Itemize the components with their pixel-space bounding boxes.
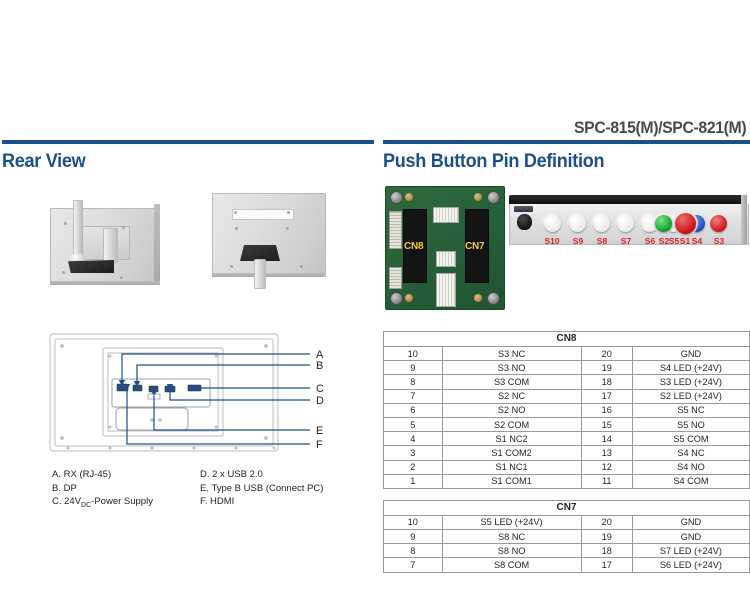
pin-number-cell: 7	[384, 389, 443, 403]
legend-column-right: D. 2 x USB 2.0 E. Type B USB (Connect PC…	[200, 468, 323, 509]
pin-number-cell: 9	[384, 361, 443, 375]
pin-number-cell: 14	[581, 432, 632, 446]
pin-table-row: 8S8 NO18S7 LED (+24V)	[384, 544, 750, 558]
pin-table-row: 9S3 NO19S4 LED (+24V)	[384, 361, 750, 375]
pin-number-cell: 8	[384, 375, 443, 389]
callout-letter-d: D	[316, 395, 324, 407]
pin-number-cell: 8	[384, 544, 443, 558]
pin-number-cell: 5	[384, 417, 443, 431]
pin-signal-cell: S6 LED (+24V)	[632, 558, 749, 572]
pin-signal-cell: S2 NO	[442, 403, 581, 417]
legend-c-prefix: C. 24V	[52, 496, 81, 507]
push-button-label-s2: S2	[653, 236, 675, 246]
pin-number-cell: 12	[581, 460, 632, 474]
pin-signal-cell: S1 NC1	[442, 460, 581, 474]
pcb-label-cn7: CN7	[465, 241, 484, 252]
button-bar-face: S10 S9 S8 S7 S6 S5 S4	[509, 204, 749, 245]
callout-letter-c: C	[316, 383, 324, 395]
pin-table-row: 7S8 COM17S6 LED (+24V)	[384, 558, 750, 572]
pin-number-cell: 9	[384, 530, 443, 544]
pcb-board-photo: CN8 CN7	[385, 186, 505, 310]
pin-signal-cell: S5 NO	[632, 417, 749, 431]
pin-signal-cell: S8 NO	[442, 544, 581, 558]
monitor-photo-angled	[50, 208, 160, 285]
push-button-s3[interactable]	[710, 215, 727, 232]
legend-c-suffix: -Power Supply	[91, 496, 153, 507]
pin-number-cell: 6	[384, 403, 443, 417]
pin-number-cell: 10	[384, 515, 443, 529]
pin-table-cn7: CN7 10S5 LED (+24V)20GND9S8 NC19GND8S8 N…	[383, 500, 750, 573]
pin-signal-cell: S7 LED (+24V)	[632, 544, 749, 558]
pin-number-cell: 17	[581, 558, 632, 572]
pin-signal-cell: S8 COM	[442, 558, 581, 572]
callout-letter-b: B	[316, 360, 323, 372]
push-button-label-s1: S1	[674, 236, 696, 246]
pin-number-cell: 13	[581, 446, 632, 460]
pin-table-row: 8S3 COM18S3 LED (+24V)	[384, 375, 750, 389]
pin-table-cn8: CN8 10S3 NC20GND9S3 NO19S4 LED (+24V)8S3…	[383, 331, 750, 489]
pin-signal-cell: S4 COM	[632, 474, 749, 488]
legend-item-b: B. DP	[52, 482, 153, 496]
pin-signal-cell: S3 COM	[442, 375, 581, 389]
pin-number-cell: 15	[581, 417, 632, 431]
push-button-heading: Push Button Pin Definition	[383, 151, 732, 173]
legend-item-a: A. RX (RJ-45)	[52, 468, 153, 482]
pin-table-row: 9S8 NC19GND	[384, 530, 750, 544]
pin-signal-cell: S2 LED (+24V)	[632, 389, 749, 403]
pin-number-cell: 1	[384, 474, 443, 488]
push-button-label-s7: S7	[615, 236, 637, 246]
pin-signal-cell: S4 NC	[632, 446, 749, 460]
pin-number-cell: 10	[384, 347, 443, 361]
pin-signal-cell: S2 NC	[442, 389, 581, 403]
pin-table-row: 10S3 NC20GND	[384, 347, 750, 361]
legend-c-subscript: DC	[81, 502, 91, 509]
rear-view-photos	[2, 183, 374, 328]
button-bar-brand-tag	[514, 206, 533, 212]
callout-letter-e: E	[316, 425, 323, 437]
rear-view-heading: Rear View	[2, 151, 355, 173]
pin-signal-cell: S5 LED (+24V)	[442, 515, 581, 529]
section-divider-rear	[2, 140, 374, 144]
pin-signal-cell: S1 NC2	[442, 432, 581, 446]
push-button-label-s3: S3	[708, 236, 730, 246]
pin-number-cell: 2	[384, 460, 443, 474]
push-button-s8[interactable]	[593, 215, 610, 232]
rear-view-line-drawing: A B C D E F	[48, 332, 348, 460]
push-button-section: Push Button Pin Definition CN8 CN7	[383, 140, 750, 573]
pin-number-cell: 19	[581, 361, 632, 375]
pin-signal-cell: S5 NC	[632, 403, 749, 417]
legend-item-f: F. HDMI	[200, 495, 323, 509]
button-bar-right-edge	[741, 195, 747, 244]
pin-signal-cell: S1 COM2	[442, 446, 581, 460]
pin-number-cell: 20	[581, 515, 632, 529]
pin-table-row: 6S2 NO16S5 NC	[384, 403, 750, 417]
push-button-label-s8: S8	[591, 236, 613, 246]
pin-signal-cell: S5 COM	[632, 432, 749, 446]
pin-signal-cell: GND	[632, 530, 749, 544]
pin-number-cell: 16	[581, 403, 632, 417]
pin-number-cell: 18	[581, 544, 632, 558]
pin-number-cell: 20	[581, 347, 632, 361]
button-bar-top-edge	[509, 195, 747, 204]
pin-table-row: 2S1 NC112S4 NO	[384, 460, 750, 474]
pcb-label-cn8: CN8	[404, 241, 423, 252]
push-button-s10[interactable]	[544, 215, 561, 232]
callout-letter-f: F	[316, 439, 323, 451]
push-button-bar-photo: S10 S9 S8 S7 S6 S5 S4	[509, 195, 747, 250]
pin-signal-cell: S8 NC	[442, 530, 581, 544]
pin-signal-cell: S1 COM1	[442, 474, 581, 488]
pin-number-cell: 11	[581, 474, 632, 488]
pin-table-cn8-body: 10S3 NC20GND9S3 NO19S4 LED (+24V)8S3 COM…	[384, 347, 750, 489]
pin-signal-cell: S3 NC	[442, 347, 581, 361]
section-divider-push	[383, 140, 750, 144]
legend-item-e: E. Type B USB (Connect PC)	[200, 482, 323, 496]
pin-table-row: 7S2 NC17S2 LED (+24V)	[384, 389, 750, 403]
pin-number-cell: 7	[384, 558, 443, 572]
pin-table-cn7-wrapper: CN7 10S5 LED (+24V)20GND9S8 NC19GND8S8 N…	[383, 500, 750, 573]
pin-table-row: 10S5 LED (+24V)20GND	[384, 515, 750, 529]
pin-signal-cell: S3 NO	[442, 361, 581, 375]
push-button-s1[interactable]	[675, 213, 696, 234]
pin-number-cell: 17	[581, 389, 632, 403]
pin-signal-cell: S2 COM	[442, 417, 581, 431]
pin-number-cell: 18	[581, 375, 632, 389]
pin-signal-cell: S3 LED (+24V)	[632, 375, 749, 389]
page-title: SPC-815(M)/SPC-821(M)	[574, 118, 746, 138]
pin-table-row: 3S1 COM213S4 NC	[384, 446, 750, 460]
pin-table-cn8-wrapper: CN8 10S3 NC20GND9S3 NO19S4 LED (+24V)8S3…	[383, 331, 750, 489]
legend-item-c: C. 24VDC-Power Supply	[52, 495, 153, 512]
pin-table-cn7-body: 10S5 LED (+24V)20GND9S8 NC19GND8S8 NO18S…	[384, 515, 750, 572]
pin-table-row: 4S1 NC214S5 COM	[384, 432, 750, 446]
legend-column-left: A. RX (RJ-45) B. DP C. 24VDC-Power Suppl…	[52, 468, 153, 512]
pin-signal-cell: GND	[632, 515, 749, 529]
pin-number-cell: 19	[581, 530, 632, 544]
legend-item-d: D. 2 x USB 2.0	[200, 468, 323, 482]
push-button-s9[interactable]	[569, 215, 586, 232]
pin-signal-cell: S4 LED (+24V)	[632, 361, 749, 375]
pin-number-cell: 3	[384, 446, 443, 460]
pin-number-cell: 4	[384, 432, 443, 446]
selector-knob[interactable]	[517, 214, 532, 230]
push-button-s2[interactable]	[655, 215, 672, 232]
push-button-photos: CN8 CN7 S10 S9 S8 S7	[383, 183, 750, 313]
rear-view-section: Rear View	[2, 140, 374, 468]
pin-table-row: 1S1 COM111S4 COM	[384, 474, 750, 488]
pin-table-row: 5S2 COM15S5 NO	[384, 417, 750, 431]
push-button-label-s10: S10	[541, 236, 563, 246]
pin-table-cn7-title: CN7	[384, 500, 750, 515]
pin-signal-cell: GND	[632, 347, 749, 361]
push-button-s7[interactable]	[617, 215, 634, 232]
push-button-label-s9: S9	[567, 236, 589, 246]
pin-signal-cell: S4 NO	[632, 460, 749, 474]
monitor-photo-front	[212, 193, 326, 277]
pin-table-cn8-title: CN8	[384, 332, 750, 347]
